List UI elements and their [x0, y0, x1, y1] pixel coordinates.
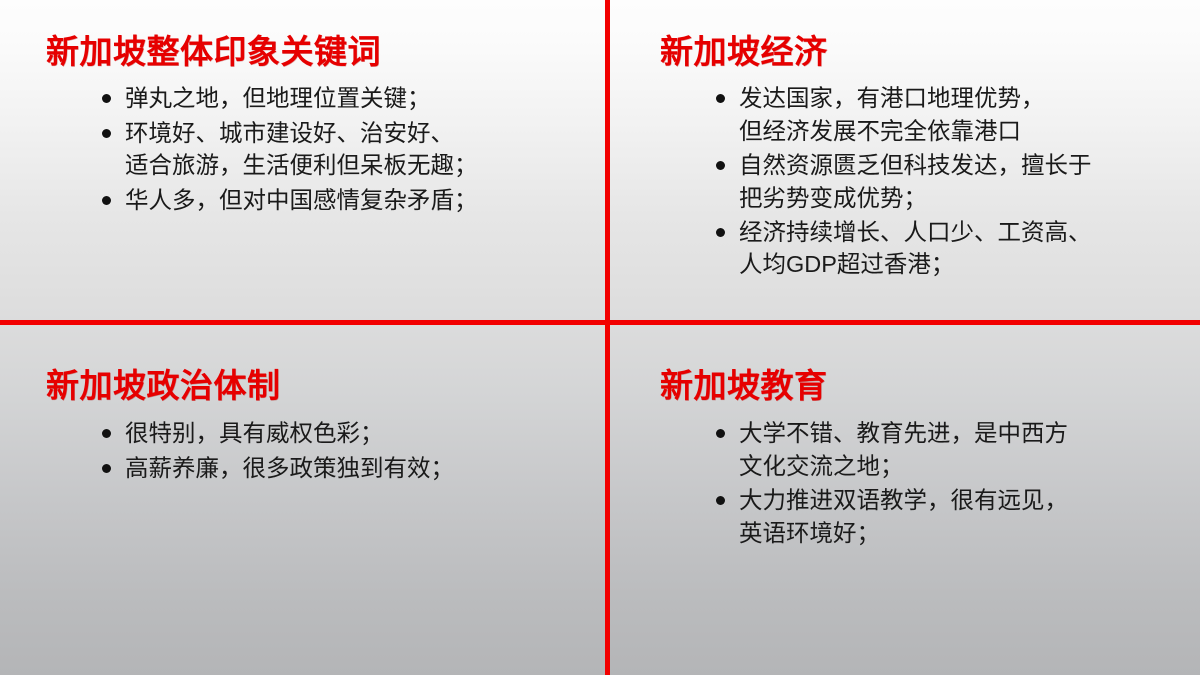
- list-item: 发达国家，有港口地理优势， 但经济发展不完全依靠港口: [714, 82, 1200, 147]
- list-item: 很特别，具有威权色彩；: [100, 417, 605, 449]
- list-item: 自然资源匮乏但科技发达，擅长于 把劣势变成优势；: [714, 149, 1200, 214]
- list-item: 华人多，但对中国感情复杂矛盾；: [100, 184, 605, 216]
- list-item: 弹丸之地，但地理位置关键；: [100, 82, 605, 114]
- horizontal-divider-rule: [0, 320, 1200, 325]
- quadrant-education: 新加坡教育 大学不错、教育先进，是中西方 文化交流之地； 大力推进双语教学，很有…: [610, 325, 1200, 675]
- quadrant-economy: 新加坡经济 发达国家，有港口地理优势， 但经济发展不完全依靠港口 自然资源匮乏但…: [610, 0, 1200, 320]
- list-item: 高薪养廉，很多政策独到有效；: [100, 452, 605, 484]
- quadrant-title-political-system: 新加坡政治体制: [46, 368, 605, 404]
- bullet-list-political-system: 很特别，具有威权色彩； 高薪养廉，很多政策独到有效；: [100, 417, 605, 484]
- vertical-divider-rule: [605, 0, 610, 675]
- quadrant-title-economy: 新加坡经济: [660, 34, 1200, 70]
- slide-canvas: 新加坡整体印象关键词 弹丸之地，但地理位置关键； 环境好、城市建设好、治安好、 …: [0, 0, 1200, 675]
- quadrant-title-education: 新加坡教育: [660, 368, 1200, 404]
- list-item: 经济持续增长、人口少、工资高、 人均GDP超过香港；: [714, 216, 1200, 281]
- bullet-list-education: 大学不错、教育先进，是中西方 文化交流之地； 大力推进双语教学，很有远见， 英语…: [714, 417, 1200, 549]
- quadrant-political-system: 新加坡政治体制 很特别，具有威权色彩； 高薪养廉，很多政策独到有效；: [0, 325, 605, 675]
- bullet-list-economy: 发达国家，有港口地理优势， 但经济发展不完全依靠港口 自然资源匮乏但科技发达，擅…: [714, 82, 1200, 281]
- quadrant-overall-impression: 新加坡整体印象关键词 弹丸之地，但地理位置关键； 环境好、城市建设好、治安好、 …: [0, 0, 605, 320]
- list-item: 环境好、城市建设好、治安好、 适合旅游，生活便利但呆板无趣；: [100, 117, 605, 182]
- list-item: 大力推进双语教学，很有远见， 英语环境好；: [714, 484, 1200, 549]
- bullet-list-overall-impression: 弹丸之地，但地理位置关键； 环境好、城市建设好、治安好、 适合旅游，生活便利但呆…: [100, 82, 605, 216]
- quadrant-title-overall-impression: 新加坡整体印象关键词: [46, 34, 605, 70]
- list-item: 大学不错、教育先进，是中西方 文化交流之地；: [714, 417, 1200, 482]
